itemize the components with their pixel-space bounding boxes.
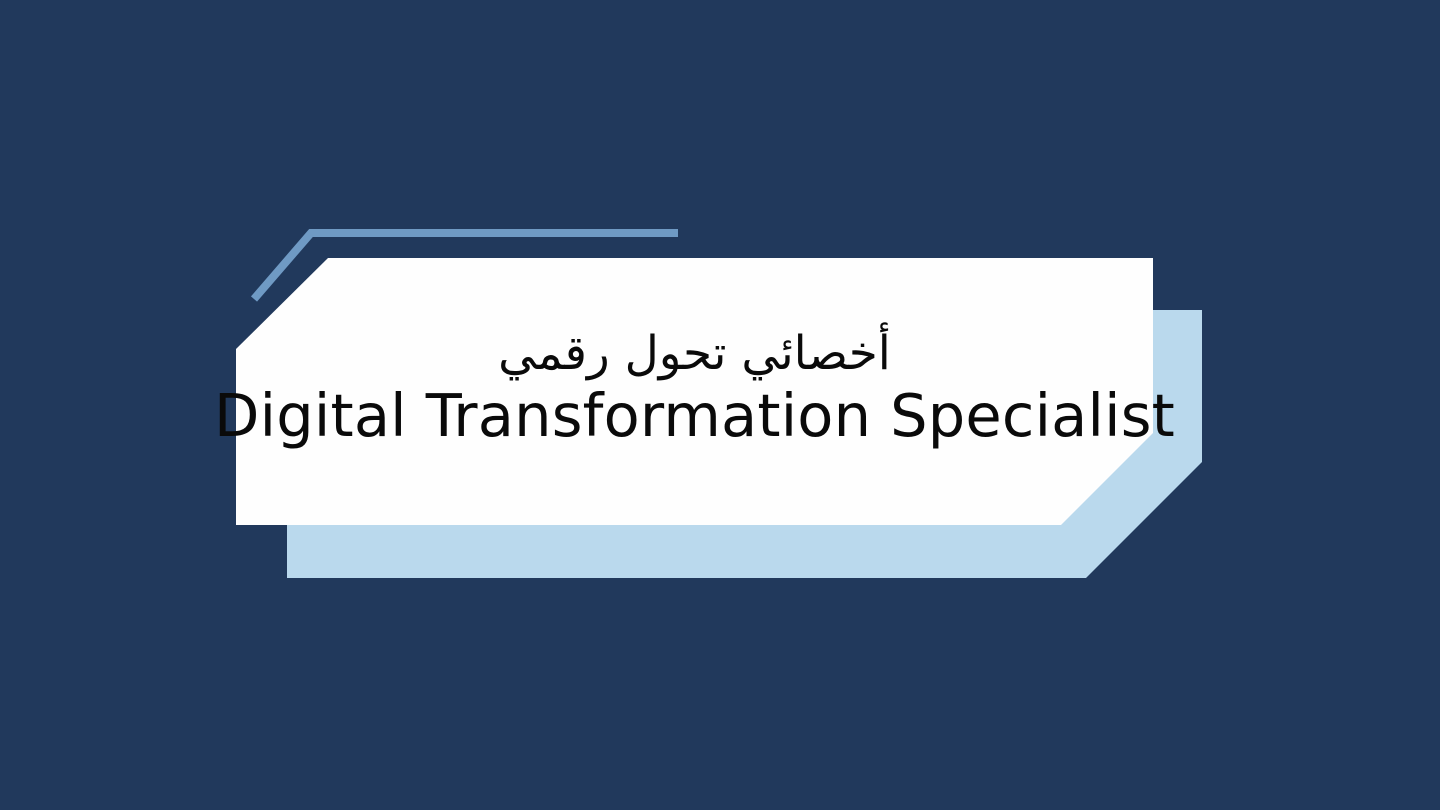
title-english: Digital Transformation Specialist (214, 383, 1175, 449)
title-arabic: أخصائي تحول رقمي (498, 328, 891, 381)
title-text-block: أخصائي تحول رقمي Digital Transformation … (236, 258, 1153, 525)
slide-canvas: أخصائي تحول رقمي Digital Transformation … (0, 0, 1440, 810)
